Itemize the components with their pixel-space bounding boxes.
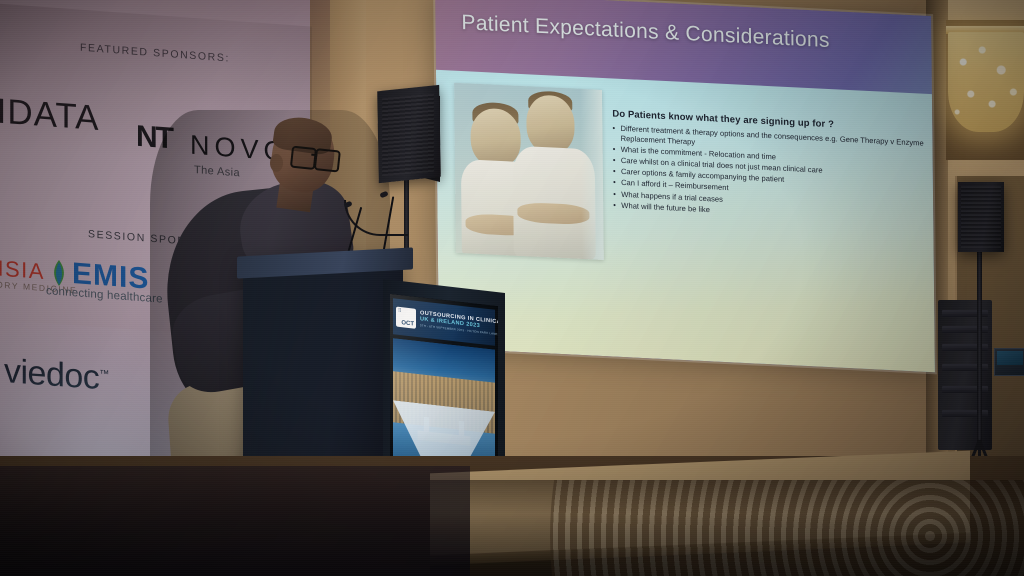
bullet-marker-icon: • bbox=[613, 167, 621, 177]
pa-right-grille bbox=[961, 186, 1001, 248]
viedoc-tm: ™ bbox=[99, 369, 109, 381]
pa-left-grille bbox=[382, 94, 434, 177]
oct-logo-icon: ⠿ OCT bbox=[396, 307, 416, 329]
bullet-marker-icon: • bbox=[612, 123, 620, 143]
projection-screen: Patient Expectations & Considerations bbox=[435, 0, 935, 372]
chandelier-icon bbox=[948, 32, 1024, 132]
event-branding-header: ⠿ OCT OUTSOURCING IN CLINICAL TRIALS UK … bbox=[393, 298, 495, 346]
bullet-marker-icon: • bbox=[613, 200, 621, 210]
carpet-shading bbox=[430, 480, 1024, 576]
bullet-marker-icon: • bbox=[613, 155, 621, 165]
bullet-marker-icon: • bbox=[613, 189, 621, 199]
slide-body: Do Patients know what they are signing u… bbox=[436, 70, 935, 372]
oct-logo-initials: OCT bbox=[401, 320, 414, 327]
patterned-carpet bbox=[430, 480, 1024, 576]
slide-surface: Patient Expectations & Considerations bbox=[435, 0, 935, 372]
bullet-marker-icon: • bbox=[613, 144, 621, 154]
viedoc-wordmark: viedoc bbox=[4, 352, 99, 397]
av-equipment-rack bbox=[938, 300, 992, 450]
speaker-ear bbox=[270, 154, 283, 172]
glasses-icon bbox=[290, 146, 340, 171]
viedoc-logo: viedoc™ bbox=[4, 352, 109, 399]
slide-title: Patient Expectations & Considerations bbox=[461, 11, 881, 56]
slide-photo bbox=[454, 83, 604, 260]
slide-bullet-list: Do Patients know what they are signing u… bbox=[612, 108, 925, 226]
oct-logo-dots: ⠿ bbox=[398, 309, 401, 314]
floor-left-shadow bbox=[0, 466, 470, 576]
bullet-marker-icon: • bbox=[613, 178, 621, 188]
emis-leaf-icon bbox=[46, 257, 72, 289]
pa-right-stand bbox=[977, 250, 982, 450]
conference-photo-scene: FEATURED SPONSORS: EDIDATA NT NOVO The A… bbox=[0, 0, 1024, 576]
laptop bbox=[994, 348, 1024, 376]
